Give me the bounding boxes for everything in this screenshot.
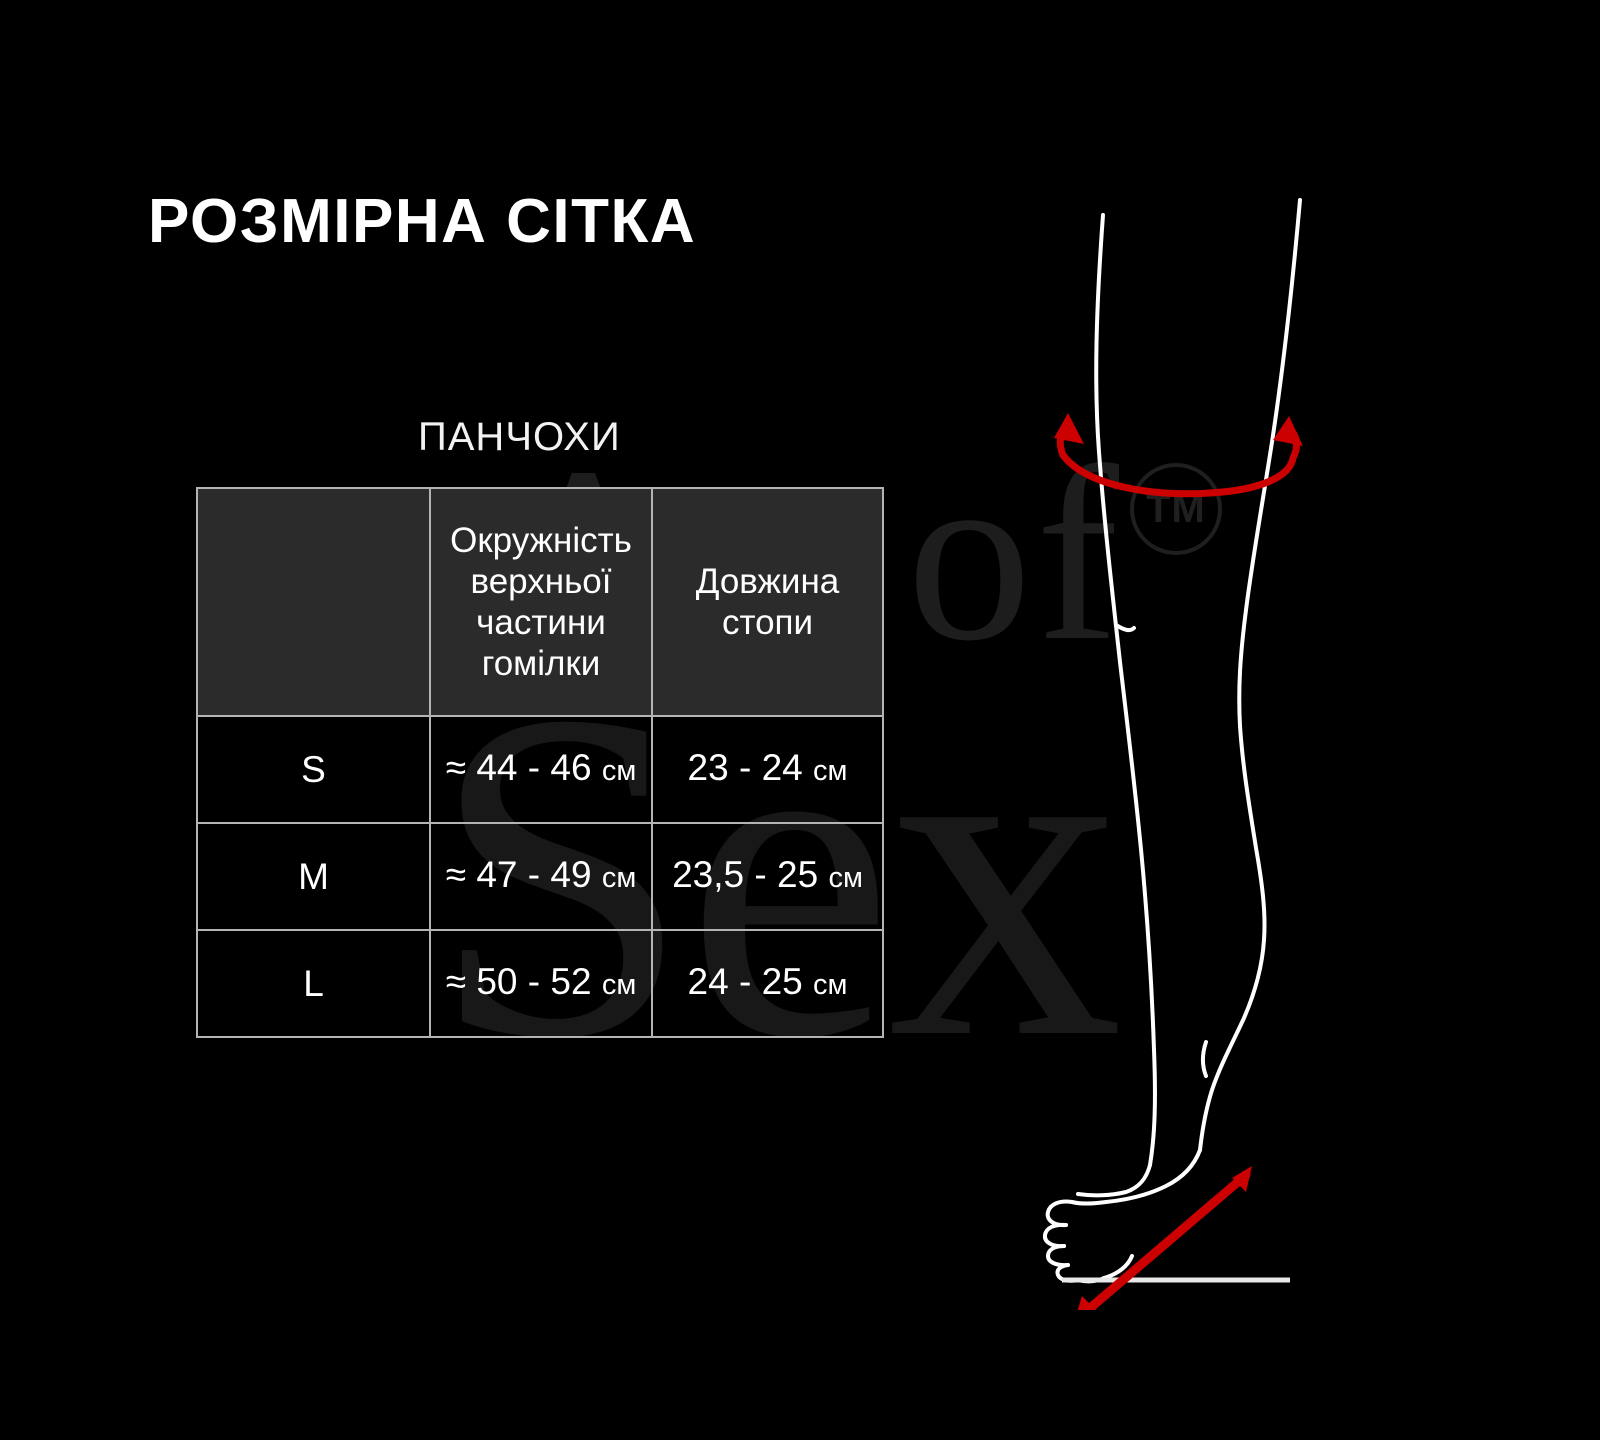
- table-row: S ≈ 44 - 46 см 23 - 24 см: [197, 716, 883, 823]
- cell-size: M: [197, 823, 430, 930]
- cell-circumference-unit: см: [602, 755, 636, 787]
- cell-foot-length-unit: см: [828, 862, 862, 894]
- column-header-foot-length: Довжина стопи: [652, 488, 883, 716]
- table-row: L ≈ 50 - 52 см 24 - 25 см: [197, 930, 883, 1037]
- cell-foot-length-value: 23,5 - 25: [672, 854, 818, 895]
- knee-detail-line: [1116, 625, 1134, 630]
- cell-circumference-value: ≈ 44 - 46: [446, 747, 592, 788]
- column-header-size: [197, 488, 430, 716]
- column-header-circumference: Окружність верхньої частини гомілки: [430, 488, 652, 716]
- table-header: Окружність верхньої частини гомілки Довж…: [197, 488, 883, 716]
- cell-size: L: [197, 930, 430, 1037]
- leg-illustration: [1000, 170, 1420, 1310]
- cell-foot-length-unit: см: [813, 969, 847, 1001]
- table-body: S ≈ 44 - 46 см 23 - 24 см M ≈ 47 - 49 см…: [197, 716, 883, 1037]
- cell-circumference: ≈ 47 - 49 см: [430, 823, 652, 930]
- cell-circumference-unit: см: [602, 969, 636, 1001]
- size-chart-table: Окружність верхньої частини гомілки Довж…: [196, 487, 884, 1038]
- toe-2: [1045, 1225, 1066, 1246]
- cell-circumference-value: ≈ 47 - 49: [446, 854, 592, 895]
- page-title: РОЗМІРНА СІТКА: [148, 186, 696, 257]
- cell-foot-length-value: 24 - 25: [688, 961, 803, 1002]
- toe-3: [1048, 1246, 1068, 1265]
- cell-foot-length: 23,5 - 25 см: [652, 823, 883, 930]
- cell-circumference-unit: см: [602, 862, 636, 894]
- cell-foot-length-unit: см: [813, 755, 847, 787]
- cell-size: S: [197, 716, 430, 823]
- table-row: M ≈ 47 - 49 см 23,5 - 25 см: [197, 823, 883, 930]
- cell-foot-length: 23 - 24 см: [652, 716, 883, 823]
- cell-foot-length: 24 - 25 см: [652, 930, 883, 1037]
- leg-back-contour: [1096, 215, 1155, 1165]
- toe-1: [1048, 1201, 1072, 1225]
- table-header-row: Окружність верхньої частини гомілки Довж…: [197, 488, 883, 716]
- cell-foot-length-value: 23 - 24: [688, 747, 803, 788]
- cell-circumference: ≈ 44 - 46 см: [430, 716, 652, 823]
- leg-front-contour: [1200, 200, 1300, 1150]
- section-caption-stockings: ПАНЧОХИ: [418, 415, 621, 460]
- cell-circumference-value: ≈ 50 - 52: [446, 961, 592, 1002]
- thigh-circumference-arrow: [1054, 413, 1303, 494]
- ankle-detail-line: [1203, 1042, 1206, 1076]
- heel-contour: [1078, 1165, 1150, 1195]
- cell-circumference: ≈ 50 - 52 см: [430, 930, 652, 1037]
